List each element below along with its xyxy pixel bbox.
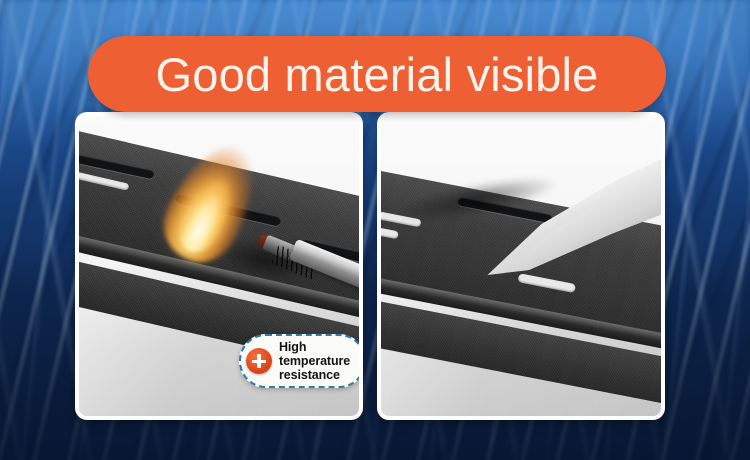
panel-high-temperature: High temperature resistance xyxy=(75,112,363,420)
photo-knife-test xyxy=(381,116,661,416)
promo-image: High temperature resistance xyxy=(0,0,750,460)
headline-text: Good material visible xyxy=(155,51,598,98)
plus-circle-icon xyxy=(246,348,272,374)
badge-high-temperature: High temperature resistance xyxy=(239,334,363,388)
panel-anti-scratch: Anti scratch xyxy=(377,112,665,420)
badge-label: High temperature resistance xyxy=(279,340,350,382)
headline-banner: Good material visible xyxy=(88,36,666,112)
